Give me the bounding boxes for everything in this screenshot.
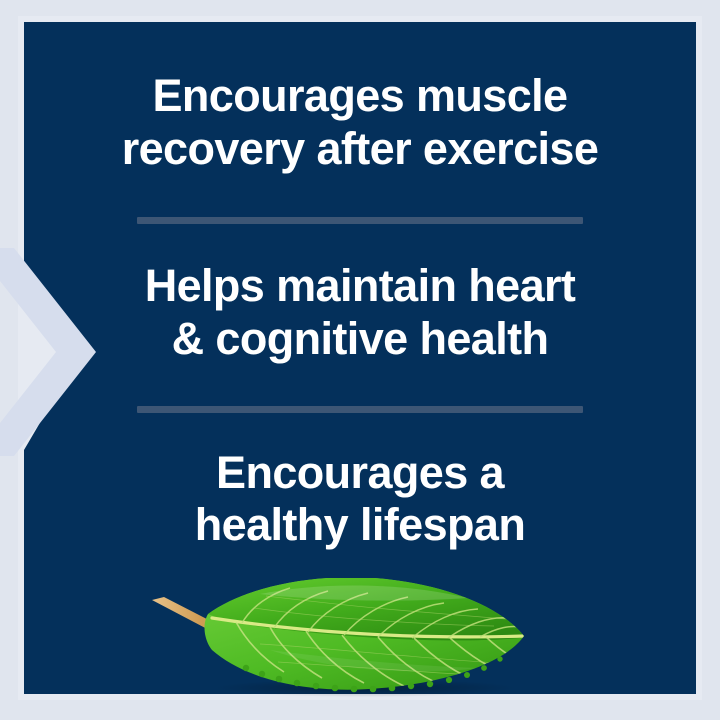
benefit-item-heart-cognitive: Helps maintain heart & cognitive health [24,260,696,365]
gap [24,366,696,406]
benefit-item-muscle-recovery: Encourages muscle recovery after exercis… [24,70,696,175]
benefit-text: Encourages a healthy lifespan [60,447,660,552]
green-leaf-image [150,578,540,700]
benefit-divider-2 [137,406,583,413]
gap [24,224,696,260]
benefit-text: Helps maintain heart & cognitive health [60,260,660,365]
benefit-list: Encourages muscle recovery after exercis… [24,22,696,552]
gap [24,175,696,217]
gap [24,413,696,447]
benefits-panel: Encourages muscle recovery after exercis… [0,0,720,720]
benefit-divider-1 [137,217,583,224]
benefit-item-healthy-lifespan: Encourages a healthy lifespan [24,447,696,552]
benefit-text: Encourages muscle recovery after exercis… [60,70,660,175]
top-spacer [24,22,696,70]
